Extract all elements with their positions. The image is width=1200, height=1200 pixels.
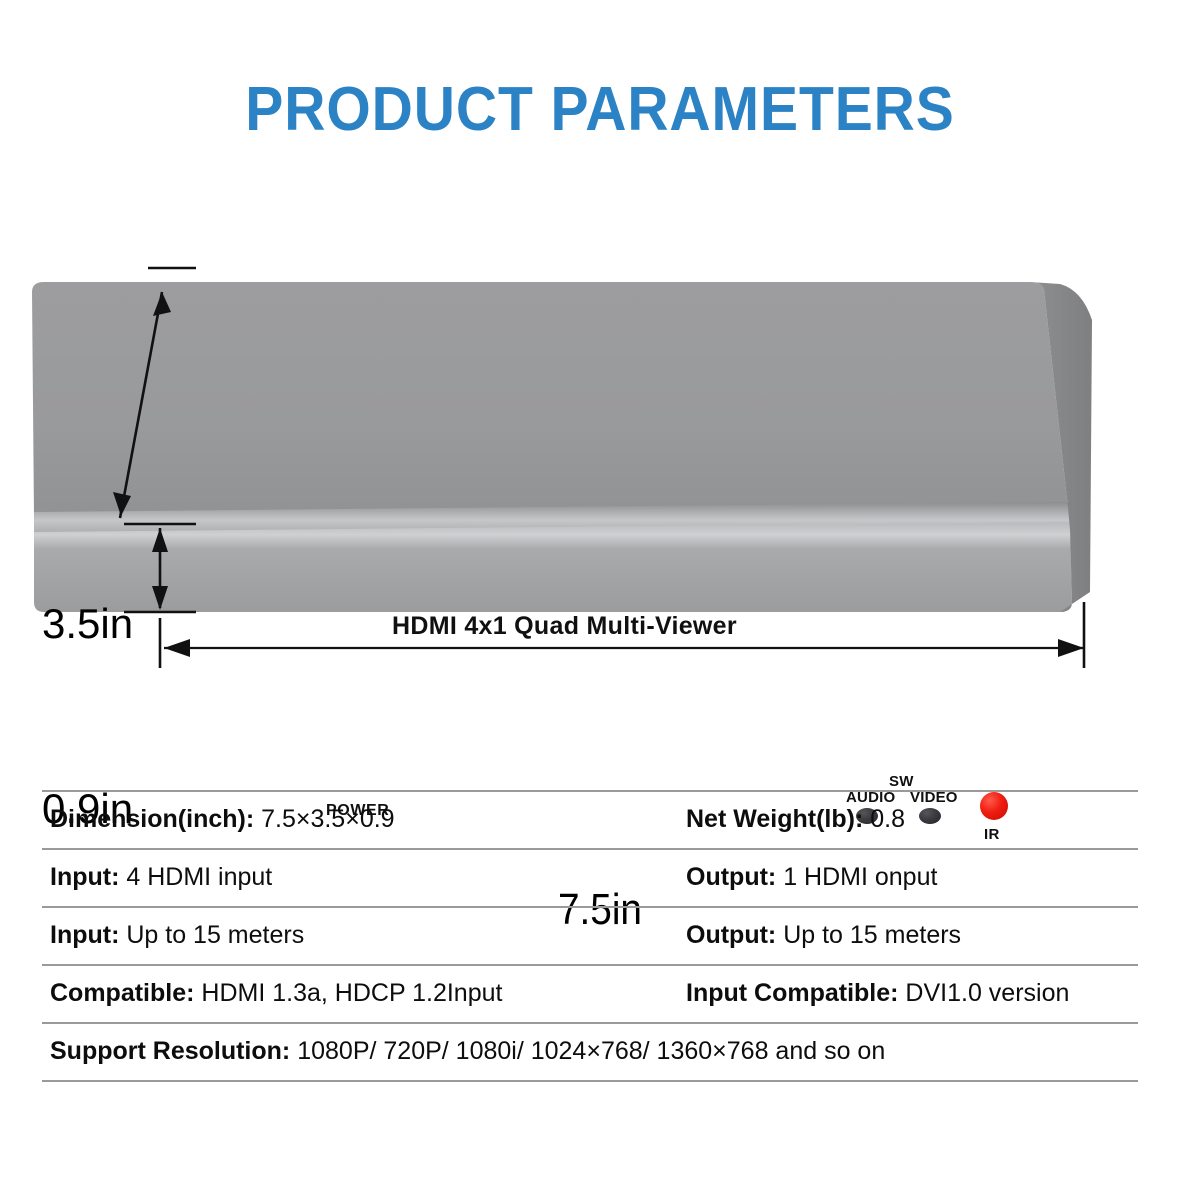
spec-key: Output: bbox=[686, 921, 783, 949]
spec-cell-net-weight: Net Weight(lb): 0.8 bbox=[678, 804, 1138, 836]
table-row: Dimension(inch): 7.5×3.5×0.9 Net Weight(… bbox=[42, 790, 1138, 848]
table-row: Compatible: HDMI 1.3a, HDCP 1.2Input Inp… bbox=[42, 964, 1138, 1022]
device-illustration: HDMI 4x1 Quad Multi-Viewer POWER SW AUDI… bbox=[0, 240, 1200, 710]
table-row: Input: 4 HDMI input Output: 1 HDMI onput bbox=[42, 848, 1138, 906]
device-product-label: HDMI 4x1 Quad Multi-Viewer bbox=[392, 612, 737, 641]
spec-key: Input: bbox=[50, 863, 126, 891]
spec-key: Compatible: bbox=[50, 979, 201, 1007]
spec-cell-input-distance: Input: Up to 15 meters bbox=[42, 920, 678, 952]
spec-cell-compatible: Compatible: HDMI 1.3a, HDCP 1.2Input bbox=[42, 978, 678, 1010]
product-parameters-page: PRODUCT PARAMETERS bbox=[0, 0, 1200, 1200]
spec-value: Up to 15 meters bbox=[783, 921, 961, 949]
spec-key: Input Compatible: bbox=[686, 979, 905, 1007]
spec-key: Net Weight(lb): bbox=[686, 805, 870, 833]
spec-value: 1080P/ 720P/ 1080i/ 1024×768/ 1360×768 a… bbox=[297, 1037, 885, 1065]
spec-value: 1 HDMI onput bbox=[783, 863, 937, 891]
table-row: Input: Up to 15 meters Output: Up to 15 … bbox=[42, 906, 1138, 964]
spec-cell-support-resolution: Support Resolution: 1080P/ 720P/ 1080i/ … bbox=[42, 1036, 1138, 1068]
page-title: PRODUCT PARAMETERS bbox=[48, 74, 1152, 145]
spec-key: Output: bbox=[686, 863, 783, 891]
spec-cell-output-distance: Output: Up to 15 meters bbox=[678, 920, 1138, 952]
spec-value: DVI1.0 version bbox=[905, 979, 1069, 1007]
spec-value: 0.8 bbox=[870, 805, 905, 833]
device-sw-label: SW bbox=[889, 773, 914, 790]
spec-key: Input: bbox=[50, 921, 126, 949]
spec-cell-dimension: Dimension(inch): 7.5×3.5×0.9 bbox=[42, 804, 678, 836]
table-row: Support Resolution: 1080P/ 720P/ 1080i/ … bbox=[42, 1022, 1138, 1082]
spec-key: Dimension(inch): bbox=[50, 805, 261, 833]
spec-value: Up to 15 meters bbox=[126, 921, 304, 949]
spec-cell-output-count: Output: 1 HDMI onput bbox=[678, 862, 1138, 894]
spec-cell-input-compatible: Input Compatible: DVI1.0 version bbox=[678, 978, 1138, 1010]
spec-value: HDMI 1.3a, HDCP 1.2Input bbox=[201, 979, 502, 1007]
spec-value: 4 HDMI input bbox=[126, 863, 272, 891]
spec-key: Support Resolution: bbox=[50, 1037, 297, 1065]
dimension-height-label: 3.5in bbox=[42, 600, 133, 648]
spec-cell-input-count: Input: 4 HDMI input bbox=[42, 862, 678, 894]
spec-value: 7.5×3.5×0.9 bbox=[261, 805, 394, 833]
specification-table: Dimension(inch): 7.5×3.5×0.9 Net Weight(… bbox=[42, 790, 1138, 1082]
